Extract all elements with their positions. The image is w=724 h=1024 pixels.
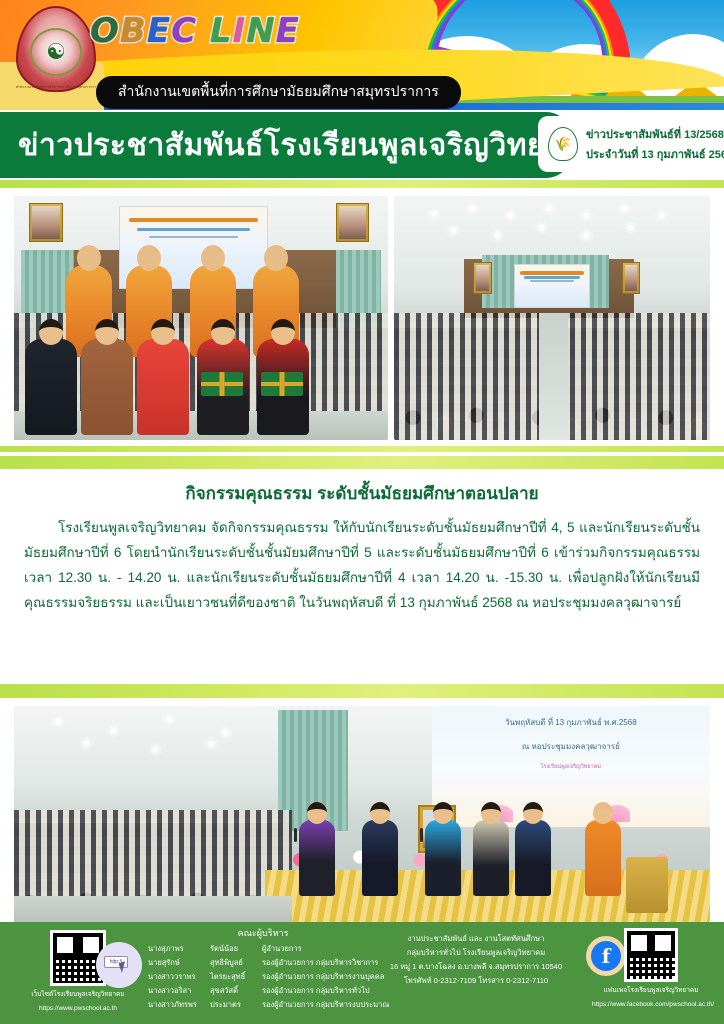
- student-figure: [473, 820, 509, 896]
- admin-first-name: นายสุรักษ์: [148, 956, 210, 970]
- royal-portrait: [622, 262, 641, 294]
- photo-monks-group: [14, 196, 388, 440]
- student-figure: [515, 820, 551, 896]
- offering-gift: [201, 372, 243, 396]
- banner-line-1: วันพฤหัสบดี ที่ 13 กุมภาพันธ์ พ.ศ.2568: [448, 716, 693, 729]
- banner-line-3: โรงเรียนพูลเจริญวิทยาคม: [448, 763, 693, 771]
- decor-stripe-c: [0, 456, 724, 469]
- contact-line-2: กลุ่มบริหารทั่วไป โรงเรียนพูลเจริญวิทยาค…: [378, 946, 574, 960]
- obec-logo-letter: N: [246, 11, 275, 51]
- admin-row: นางสาวภัทรพรประมาตรรองผู้อำนวยการ กลุ่มบ…: [148, 998, 378, 1012]
- staff-figure: [25, 339, 77, 435]
- contact-line-3: 16 หมู่ 1 ต.บางโฉลง อ.บางพลี จ.สมุทรปราก…: [378, 960, 574, 974]
- footer: เว็บไซต์โรงเรียนพูลเจริญวิทยาคม https://…: [0, 922, 724, 1024]
- obec-logo-letter: O: [90, 11, 120, 51]
- office-name-bar: สำนักงานเขตพื้นที่การศึกษามัธยมศึกษาสมุท…: [96, 76, 461, 109]
- article-body: โรงเรียนพูลเจริญวิทยาคม จัดกิจกรรมคุณธรร…: [24, 515, 700, 615]
- page-title: ข่าวประชาสัมพันธ์โรงเรียนพูลเจริญวิทยาคม: [0, 122, 603, 169]
- admin-last-name: รัตน์น้อย: [210, 942, 262, 956]
- contact-block: งานประชาสัมพันธ์ และ งานโสตทัศนศึกษา กลุ…: [378, 932, 574, 988]
- badge-date: ประจำวันที่ 13 กุมภาพันธ์ 2568: [586, 145, 724, 163]
- article-block: กิจกรรมคุณธรรม ระดับชั้นมัธยมศึกษาตอนปลา…: [0, 472, 724, 678]
- admin-last-name: สุขสวัสดิ์: [210, 984, 262, 998]
- obec-logo-letter: E: [147, 11, 171, 51]
- royal-portrait: [29, 203, 63, 242]
- office-name-label: สำนักงานเขตพื้นที่การศึกษามัธยมศึกษาสมุท…: [118, 83, 439, 99]
- staff-figure: [137, 339, 189, 435]
- rice-seal-icon: [548, 127, 578, 161]
- admin-first-name: นางสาวอริสา: [148, 984, 210, 998]
- admin-role: รองผู้อำนวยการ กลุ่มบริหารงบประมาณ: [262, 998, 389, 1012]
- admin-role: รองผู้อำนวยการ กลุ่มบริหารวิชาการ: [262, 956, 378, 970]
- admin-last-name: สุทธิพิบูลย์: [210, 956, 262, 970]
- admin-row: นางสาวอริสาสุขสวัสดิ์รองผู้อำนวยการ กลุ่…: [148, 984, 378, 998]
- podium: [626, 857, 668, 913]
- speaker-figure: [362, 820, 398, 896]
- admin-last-name: ไตรยะสุทธิ์: [210, 970, 262, 984]
- stage-screen: [514, 264, 590, 308]
- seal-ribbon-text: สำนักงานเขตพื้นที่การศึกษามัธยมศึกษาสมุท…: [8, 74, 104, 100]
- royal-portrait: [336, 203, 370, 242]
- obec-logo-letter: I: [233, 11, 247, 51]
- news-issue-badge: ข่าวประชาสัมพันธ์ที่ 13/2568 ประจำวันที่…: [538, 116, 722, 172]
- stage-banner: วันพฤหัสบดี ที่ 13 กุมภาพันธ์ พ.ศ.2568 ณ…: [432, 706, 710, 827]
- facebook-url[interactable]: https://www.facebook.com/pwschool.ac.th/: [592, 999, 710, 1010]
- article-title: กิจกรรมคุณธรรม ระดับชั้นมัธยมศึกษาตอนปลา…: [24, 480, 700, 507]
- website-url[interactable]: https://www.pwschool.ac.th: [18, 1003, 138, 1014]
- website-qr-caption: เว็บไซต์โรงเรียนพูลเจริญวิทยาคม: [18, 989, 138, 1000]
- bottom-photo-wrap: วันพฤหัสบดี ที่ 13 กุมภาพันธ์ พ.ศ.2568 ณ…: [14, 706, 710, 922]
- admin-row: นางสาววราพรไตรยะสุทธิ์รองผู้อำนวยการ กลุ…: [148, 970, 378, 984]
- photo-stage-speakers: วันพฤหัสบดี ที่ 13 กุมภาพันธ์ พ.ศ.2568 ณ…: [14, 706, 710, 922]
- contact-line-1: งานประชาสัมพันธ์ และ งานโสตทัศนศึกษา: [378, 932, 574, 946]
- decor-stripe-top: [0, 180, 724, 188]
- admin-list: คณะผู้บริหาร นางสุภาพรรัตน์น้อยผู้อำนวยก…: [148, 926, 378, 1012]
- offering-gift: [261, 372, 303, 396]
- admin-first-name: นางสุภาพร: [148, 942, 210, 956]
- speaker-figure: [425, 820, 461, 896]
- photo-assembly-hall: [394, 196, 710, 440]
- decor-stripe-b: [0, 446, 724, 452]
- admin-role: รองผู้อำนวยการ กลุ่มบริหารทั่วไป: [262, 984, 378, 998]
- facebook-qr-caption: แฟนเพจโรงเรียนพูลเจริญวิทยาคม: [592, 985, 710, 996]
- decor-stripe-bottom: [0, 684, 724, 698]
- speaker-figure: [299, 820, 335, 896]
- link-cursor-icon: http://: [96, 942, 142, 988]
- obec-logo-letter: B: [120, 11, 147, 51]
- obec-logo-letter: L: [210, 11, 233, 51]
- top-photo-row: [14, 196, 710, 440]
- qr-code-icon[interactable]: [624, 928, 678, 982]
- admin-row: นายสุรักษ์สุทธิพิบูลย์รองผู้อำนวยการ กลุ…: [148, 956, 378, 970]
- header-banner: ☯ สำนักงานเขตพื้นที่การศึกษามัธยมศึกษาสม…: [0, 0, 724, 110]
- obec-line-logo: OBEC LINE: [90, 14, 300, 48]
- admin-role: ผู้อำนวยการ: [262, 942, 378, 956]
- obec-logo-letter: [197, 11, 210, 51]
- admin-row: นางสุภาพรรัตน์น้อยผู้อำนวยการ: [148, 942, 378, 956]
- admin-role: รองผู้อำนวยการ กลุ่มบริหารงานบุคคล: [262, 970, 384, 984]
- admin-last-name: ประมาตร: [210, 998, 262, 1012]
- royal-portrait: [473, 262, 492, 294]
- banner-line-2: ณ หอประชุมมงคลวุฒาจารย์: [448, 740, 693, 753]
- contact-line-4: โทรศัพท์ 0-2312-7109 โทรสาร 0-2312-7110: [378, 974, 574, 988]
- obec-logo-letter: E: [276, 11, 300, 51]
- admin-list-title: คณะผู้บริหาร: [148, 926, 378, 940]
- badge-issue-number: ข่าวประชาสัมพันธ์ที่ 13/2568: [586, 125, 724, 143]
- facebook-qr-block[interactable]: แฟนเพจโรงเรียนพูลเจริญวิทยาคม https://ww…: [592, 928, 710, 1010]
- monk-figure: [585, 820, 621, 896]
- staff-figure: [81, 339, 133, 435]
- admin-first-name: นางสาววราพร: [148, 970, 210, 984]
- admin-first-name: นางสาวภัทรพร: [148, 998, 210, 1012]
- obec-logo-letter: C: [171, 11, 197, 51]
- page-title-bar: ข่าวประชาสัมพันธ์โรงเรียนพูลเจริญวิทยาคม: [0, 112, 572, 178]
- news-poster-page: ☯ สำนักงานเขตพื้นที่การศึกษามัธยมศึกษาสม…: [0, 0, 724, 1024]
